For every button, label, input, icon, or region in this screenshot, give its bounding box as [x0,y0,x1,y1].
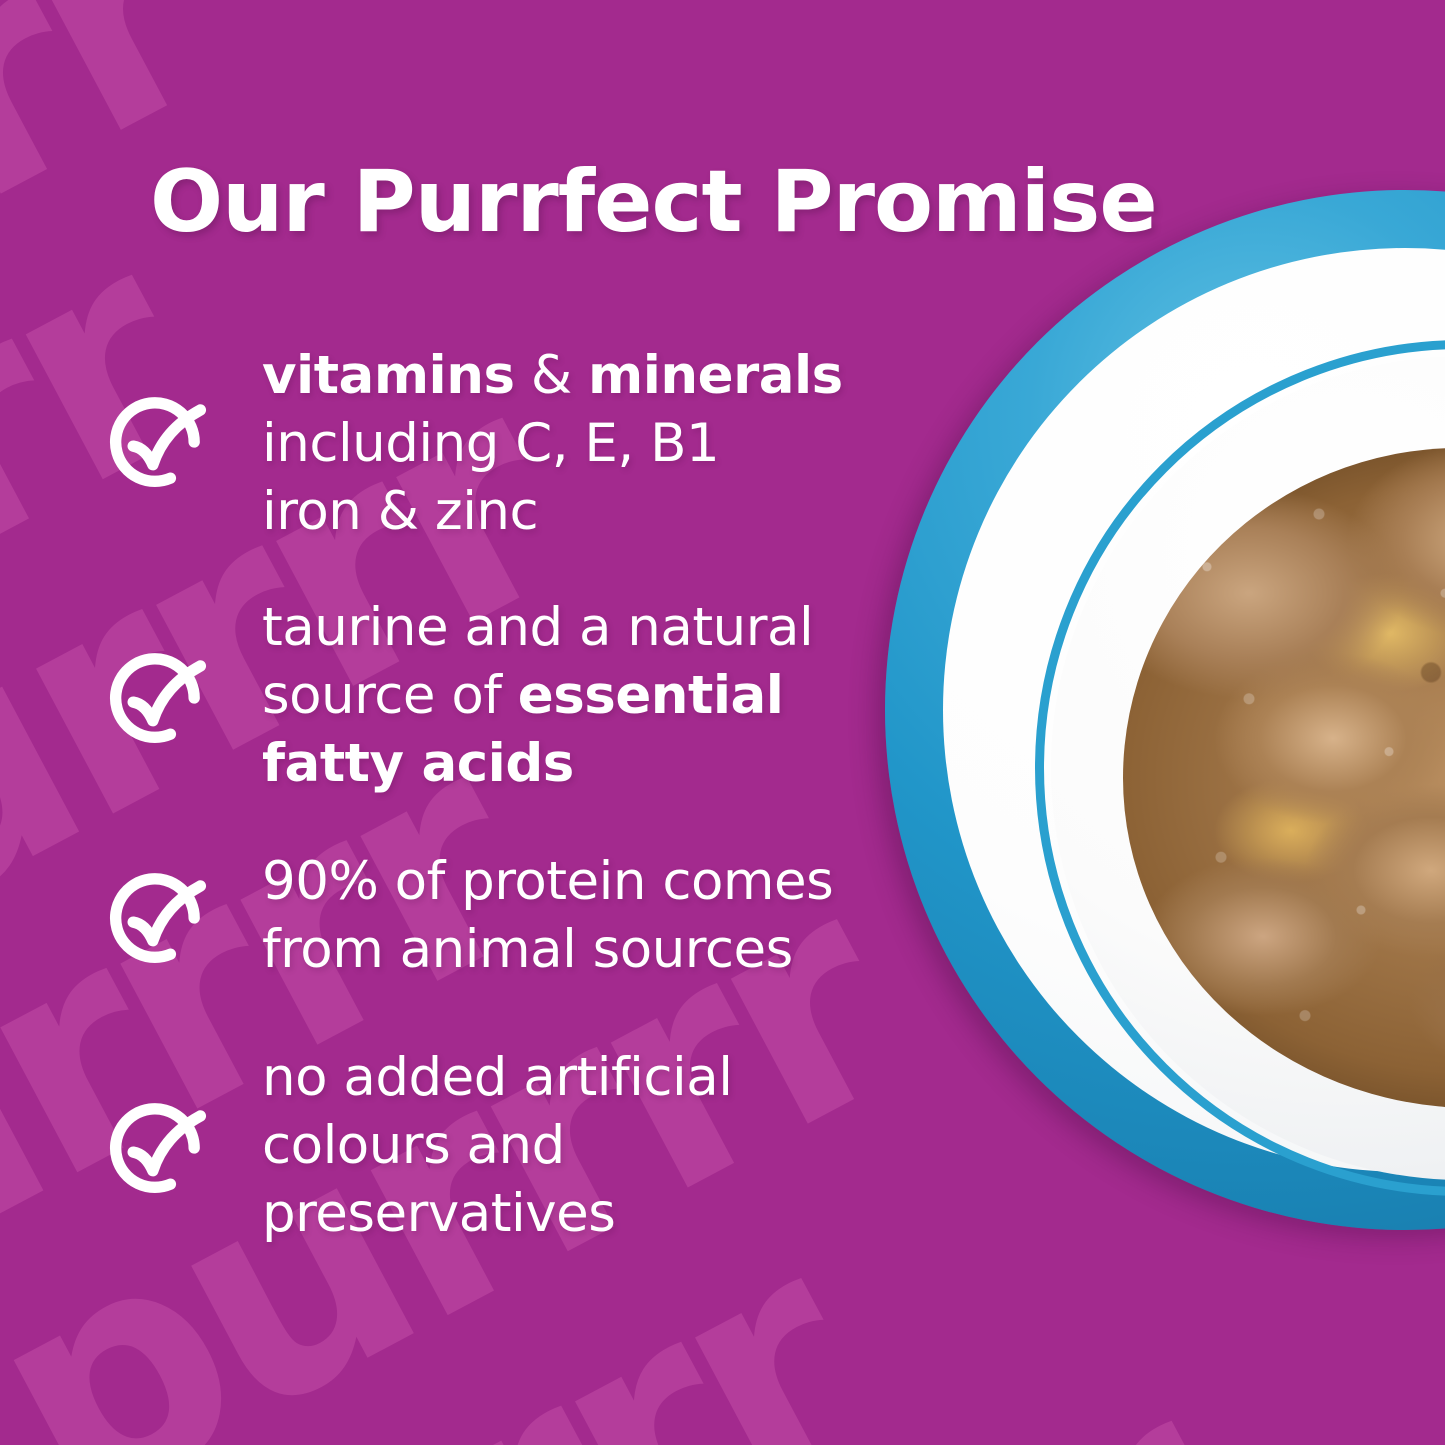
list-item-label: taurine and a naturalsource of essential… [262,594,813,798]
check-circle-icon [96,856,220,980]
list-item-plain: from animal sources [262,919,793,980]
list-item: vitamins & mineralsincluding C, E, B1iro… [88,342,888,546]
list-item-label: no added artificialcolours andpreservati… [262,1044,732,1248]
list-item: 90% of protein comesfrom animal sources [88,848,888,984]
list-item-plain: taurine and a natural [262,597,813,658]
list-item-emphasis: vitamins [262,345,515,406]
list-item-plain: & [515,345,589,406]
list-item-plain: including C, E, B1 [262,413,719,474]
bowl-inner-plate [1051,356,1445,1180]
list-item-label: vitamins & mineralsincluding C, E, B1iro… [262,342,843,546]
cat-food-texture [1123,448,1445,1108]
check-circle-icon [96,636,220,760]
list-item-emphasis: minerals [588,345,843,406]
list-item: no added artificialcolours andpreservati… [88,1044,888,1248]
list-item-plain: preservatives [262,1183,615,1244]
promise-list: vitamins & mineralsincluding C, E, B1iro… [88,330,888,1248]
list-item-emphasis: essential [518,665,784,726]
list-item: taurine and a naturalsource of essential… [88,594,888,798]
list-item-label: 90% of protein comesfrom animal sources [262,848,833,984]
bowl-blue-rim [885,190,1445,1230]
list-item-plain: source of [262,665,518,726]
check-circle-icon [96,1086,220,1210]
check-circle-icon [96,380,220,504]
page-title: Our Purrfect Promise [150,152,1157,252]
cat-food-chunks [1123,448,1445,1108]
promo-banner: purrrr purrrr purrrr purrrr purrrr purrr… [0,0,1445,1445]
bowl-white-ring [943,248,1445,1172]
list-item-plain: 90% of protein comes [262,851,833,912]
watermark-row: purrrr [273,1321,1286,1445]
list-item-plain: no added artificial [262,1047,732,1108]
list-item-emphasis: fatty acids [262,733,574,794]
bowl-blue-pinstripe [1035,340,1445,1196]
list-item-plain: colours and [262,1115,565,1176]
list-item-plain: iron & zinc [262,481,538,542]
cat-food-bowl [885,190,1445,1250]
